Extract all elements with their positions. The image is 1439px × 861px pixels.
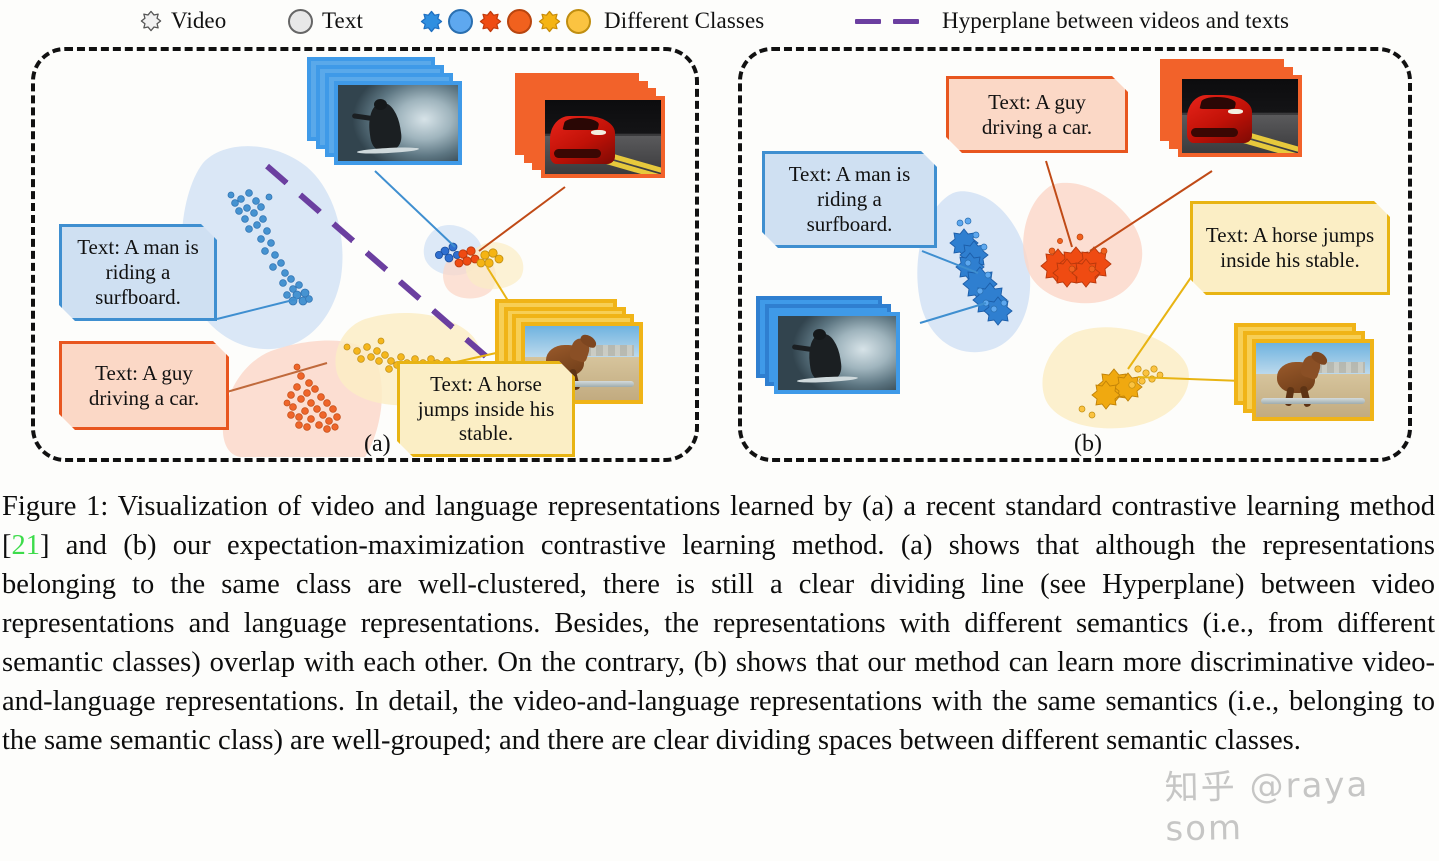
star-marker-yellow-icon bbox=[538, 10, 560, 32]
circle-marker-blue-icon bbox=[448, 9, 473, 34]
circle-marker-orange-icon bbox=[507, 9, 532, 34]
circle-marker-yellow-icon bbox=[566, 9, 591, 34]
legend-label-text: Text bbox=[322, 8, 363, 34]
figure-caption: Figure 1: Visualization of video and lan… bbox=[2, 487, 1435, 760]
circle-marker-icon bbox=[288, 9, 313, 34]
thumbnail-car bbox=[541, 96, 665, 178]
legend: Video Text Different Classes Hyperplane … bbox=[0, 0, 1439, 42]
citation-link[interactable]: 21 bbox=[12, 530, 41, 561]
callout-text-man-surfboard[interactable]: Text: A man is riding a surfboard. bbox=[59, 224, 217, 321]
video-stack-surfer[interactable] bbox=[756, 296, 911, 406]
legend-label-classes: Different Classes bbox=[604, 8, 764, 34]
legend-item-classes: Different Classes bbox=[420, 0, 764, 42]
video-stack-surfer[interactable] bbox=[307, 57, 462, 167]
caption-part2: ] and (b) our expectation-maximization c… bbox=[2, 530, 1435, 756]
video-stack-horse[interactable] bbox=[1234, 323, 1389, 433]
thumbnail-car bbox=[1178, 75, 1302, 157]
thumbnail-horse bbox=[1252, 339, 1374, 421]
callout-text-man-surfboard[interactable]: Text: A man is riding a surfboard. bbox=[762, 151, 937, 248]
legend-label-hyperplane: Hyperplane between videos and texts bbox=[942, 8, 1289, 34]
panel-a-label: (a) bbox=[364, 431, 391, 458]
legend-label-video: Video bbox=[171, 8, 226, 34]
video-stack-car[interactable] bbox=[515, 73, 665, 183]
legend-item-hyperplane: Hyperplane between videos and texts bbox=[855, 0, 1289, 42]
callout-text-horse-stable[interactable]: Text: A horse jumps inside his stable. bbox=[1190, 201, 1390, 295]
callout-text-guy-car[interactable]: Text: A guy driving a car. bbox=[59, 341, 229, 430]
star-marker-orange-icon bbox=[479, 10, 501, 32]
star-marker-blue-icon bbox=[420, 10, 442, 32]
thumbnail-surfer bbox=[774, 312, 900, 394]
video-stack-car[interactable] bbox=[1160, 59, 1315, 169]
dashed-line-icon bbox=[855, 10, 933, 32]
panel-b: Text: A man is riding a surfboard. Text:… bbox=[738, 47, 1412, 462]
star-marker-icon bbox=[140, 10, 162, 32]
figure-label: Figure 1: bbox=[2, 491, 108, 522]
callout-text-guy-car[interactable]: Text: A guy driving a car. bbox=[946, 76, 1128, 153]
legend-item-video: Video bbox=[140, 0, 226, 42]
watermark: 知乎 @raya som bbox=[1164, 756, 1439, 850]
callout-text-horse-stable[interactable]: Text: A horse jumps inside his stable. bbox=[397, 361, 575, 457]
thumbnail-surfer bbox=[334, 81, 462, 165]
legend-item-text: Text bbox=[288, 0, 363, 42]
panel-b-label: (b) bbox=[1074, 431, 1102, 458]
panel-a: Text: A man is riding a surfboard. Text:… bbox=[31, 47, 699, 462]
